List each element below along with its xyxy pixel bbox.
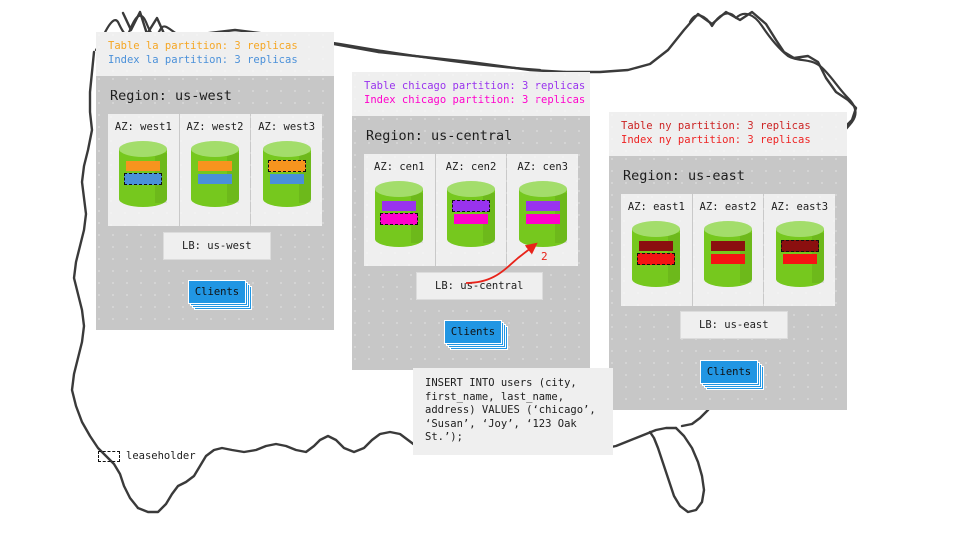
node-cylinder-cen2[interactable]	[447, 181, 495, 247]
region-title-us-west: Region: us-west	[110, 88, 322, 104]
clients-button-us-east[interactable]: Clients	[700, 360, 758, 384]
az-cell-cen2[interactable]: AZ: cen2	[436, 154, 508, 266]
load-balancer-us-central[interactable]: LB: us-central	[416, 272, 543, 300]
partition-header-us-central: Table chicago partition: 3 replicas Inde…	[352, 72, 590, 116]
partition-header-us-west: Table la partition: 3 replicas Index la …	[96, 32, 334, 76]
replica-bar-index	[711, 254, 745, 264]
load-balancer-us-west[interactable]: LB: us-west	[163, 232, 271, 260]
dashed-rectangle-icon	[98, 451, 120, 462]
legend-label-leaseholder: leaseholder	[126, 450, 196, 462]
az-label-west3: AZ: west3	[258, 121, 315, 133]
index-partition-line-chicago: Index chicago partition: 3 replicas	[364, 94, 578, 108]
index-partition-line-ny: Index ny partition: 3 replicas	[621, 134, 835, 148]
arrow-step-number-2: 2	[541, 250, 548, 263]
replica-bar-index	[454, 214, 488, 224]
replica-bar-table	[711, 241, 745, 251]
replica-bar-index	[783, 254, 817, 264]
node-cylinder-west1[interactable]	[119, 141, 167, 207]
legend: leaseholder	[98, 450, 196, 462]
table-partition-line-la: Table la partition: 3 replicas	[108, 40, 322, 54]
az-cell-east1[interactable]: AZ: east1	[621, 194, 693, 306]
node-cylinder-east3[interactable]	[776, 221, 824, 287]
cylinder-top	[375, 181, 423, 197]
az-cell-east2[interactable]: AZ: east2	[693, 194, 765, 306]
az-cell-west1[interactable]: AZ: west1	[108, 114, 180, 226]
az-row-us-east: AZ: east1 AZ: east2	[621, 194, 835, 306]
az-label-east3: AZ: east3	[771, 201, 828, 213]
clients-stack-us-east[interactable]: Clients	[700, 360, 758, 384]
replica-bar-table	[639, 241, 673, 251]
replica-bar-table	[526, 201, 560, 211]
index-partition-line-la: Index la partition: 3 replicas	[108, 54, 322, 68]
cylinder-top	[776, 221, 824, 237]
replica-bar-index	[526, 214, 560, 224]
az-label-east2: AZ: east2	[700, 201, 757, 213]
cylinder-top	[519, 181, 567, 197]
replica-bar-index-leaseholder	[124, 173, 162, 185]
node-cylinder-cen3[interactable]	[519, 181, 567, 247]
az-label-cen3: AZ: cen3	[517, 161, 568, 173]
replica-bar-table	[198, 161, 232, 171]
az-row-us-west: AZ: west1 AZ: west2	[108, 114, 322, 226]
az-label-west2: AZ: west2	[187, 121, 244, 133]
replica-bar-table-leaseholder	[452, 200, 490, 212]
replica-bar-index-leaseholder	[380, 213, 418, 225]
sql-statement-callout: INSERT INTO users (city, first_name, las…	[413, 368, 613, 455]
az-cell-west2[interactable]: AZ: west2	[180, 114, 252, 226]
replica-bar-table	[382, 201, 416, 211]
diagram-canvas: 2 Table la partition: 3 replicas Index l…	[0, 0, 960, 540]
load-balancer-us-east[interactable]: LB: us-east	[680, 311, 788, 339]
replica-bar-table-leaseholder	[268, 160, 306, 172]
region-title-us-central: Region: us-central	[366, 128, 578, 144]
replica-bar-index-leaseholder	[637, 253, 675, 265]
clients-label: Clients	[707, 366, 751, 378]
az-cell-west3[interactable]: AZ: west3	[251, 114, 322, 226]
az-cell-cen1[interactable]: AZ: cen1	[364, 154, 436, 266]
az-label-cen1: AZ: cen1	[374, 161, 425, 173]
clients-button-us-central[interactable]: Clients	[444, 320, 502, 344]
replica-bar-table-leaseholder	[781, 240, 819, 252]
clients-stack-us-central[interactable]: Clients	[444, 320, 502, 344]
table-partition-line-ny: Table ny partition: 3 replicas	[621, 120, 835, 134]
node-cylinder-west2[interactable]	[191, 141, 239, 207]
az-label-west1: AZ: west1	[115, 121, 172, 133]
az-label-east1: AZ: east1	[628, 201, 685, 213]
clients-stack-us-west[interactable]: Clients	[188, 280, 246, 304]
cylinder-top	[704, 221, 752, 237]
region-title-us-east: Region: us-east	[623, 168, 835, 184]
node-cylinder-cen1[interactable]	[375, 181, 423, 247]
replica-bar-table	[126, 161, 160, 171]
az-label-cen2: AZ: cen2	[446, 161, 497, 173]
node-cylinder-east2[interactable]	[704, 221, 752, 287]
clients-label: Clients	[195, 286, 239, 298]
cylinder-top	[632, 221, 680, 237]
replica-bar-index	[270, 174, 304, 184]
node-cylinder-east1[interactable]	[632, 221, 680, 287]
replica-bar-index	[198, 174, 232, 184]
cylinder-top	[263, 141, 311, 157]
table-partition-line-chicago: Table chicago partition: 3 replicas	[364, 80, 578, 94]
clients-label: Clients	[451, 326, 495, 338]
partition-header-us-east: Table ny partition: 3 replicas Index ny …	[609, 112, 847, 156]
cylinder-top	[447, 181, 495, 197]
az-cell-east3[interactable]: AZ: east3	[764, 194, 835, 306]
cylinder-top	[191, 141, 239, 157]
cylinder-top	[119, 141, 167, 157]
clients-button-us-west[interactable]: Clients	[188, 280, 246, 304]
node-cylinder-west3[interactable]	[263, 141, 311, 207]
